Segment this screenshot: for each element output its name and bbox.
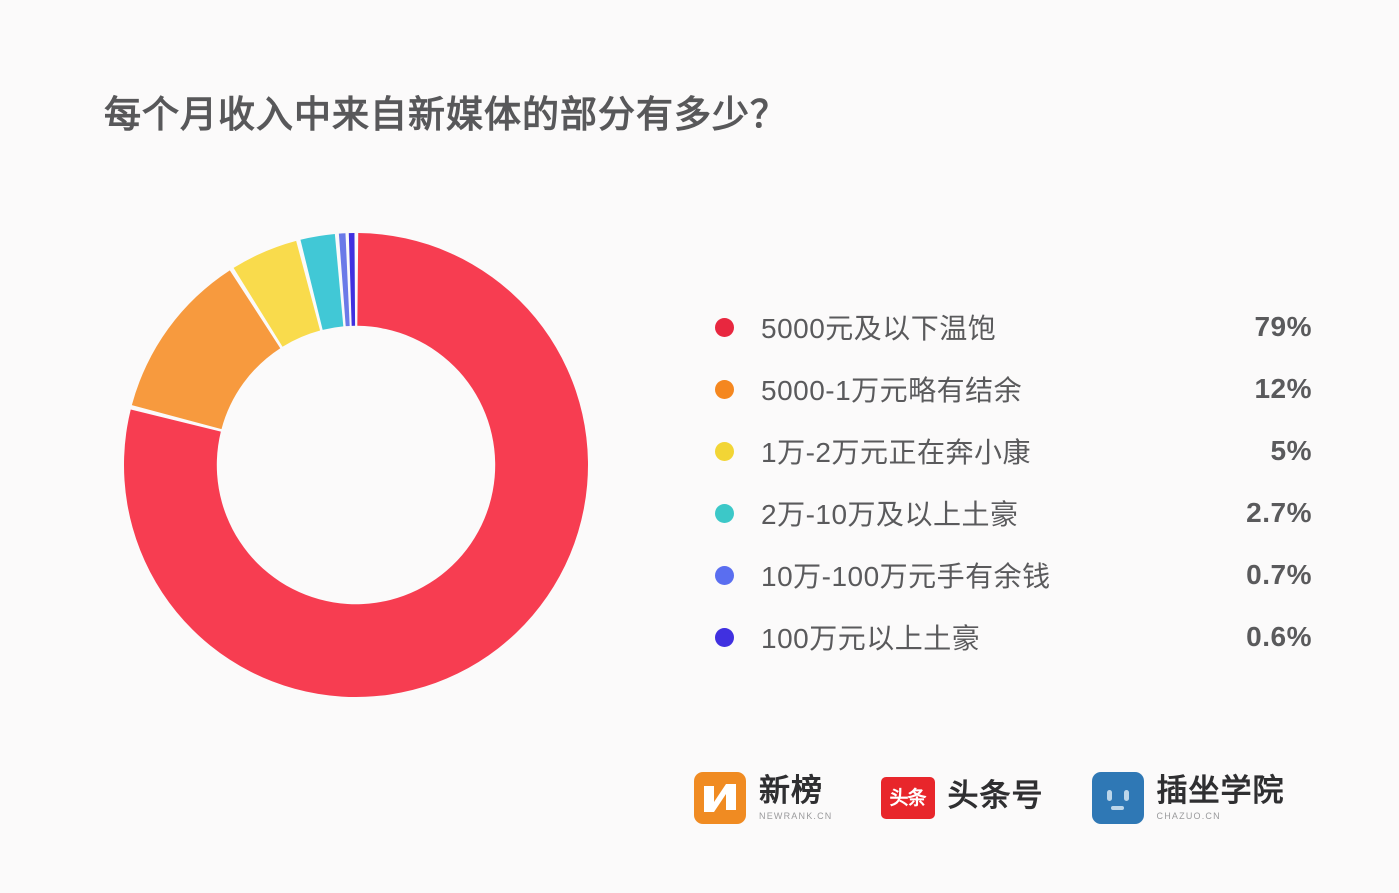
- legend-item-label: 5000-1万元略有结余: [761, 369, 1202, 409]
- legend-color-swatch-icon: [715, 504, 734, 523]
- legend-item-label: 10万-100万元手有余钱: [761, 555, 1202, 595]
- legend-item-value: 0.6%: [1202, 621, 1312, 653]
- legend-item[interactable]: 100万元以上土豪 0.6%: [712, 606, 1312, 668]
- legend-item-value: 12%: [1202, 373, 1312, 405]
- legend-color-swatch-icon: [715, 628, 734, 647]
- legend-item-label: 1万-2万元正在奔小康: [761, 431, 1202, 471]
- toutiao-mark-text: 头条: [890, 789, 926, 808]
- newrank-n-glyph-icon: [694, 772, 746, 824]
- toutiaohao-name-cn: 头条号: [948, 780, 1044, 813]
- legend-item-value: 79%: [1202, 311, 1312, 343]
- chazuo-text: 插坐学院 CHAZUO.CN: [1157, 775, 1285, 821]
- legend-color-swatch-icon: [715, 442, 734, 461]
- page-title: 每个月收入中来自新媒体的部分有多少？: [104, 84, 788, 138]
- legend-item-label: 5000元及以下温饱: [761, 307, 1202, 347]
- legend-item-value: 0.7%: [1202, 559, 1312, 591]
- legend-color-swatch-icon: [715, 318, 734, 337]
- legend-item-label: 100万元以上土豪: [761, 617, 1202, 657]
- donut-slice[interactable]: [349, 233, 355, 326]
- chart-legend: 5000元及以下温饱 79% 5000-1万元略有结余 12% 1万-2万元正在…: [712, 296, 1312, 668]
- logo-chazuo: 插坐学院 CHAZUO.CN: [1092, 772, 1285, 824]
- legend-item[interactable]: 10万-100万元手有余钱 0.7%: [712, 544, 1312, 606]
- legend-item[interactable]: 5000元及以下温饱 79%: [712, 296, 1312, 358]
- donut-chart-svg: [116, 225, 596, 705]
- chazuo-name-cn: 插坐学院: [1157, 775, 1285, 808]
- chazuo-face-right-eye-icon: [1124, 790, 1129, 801]
- chazuo-mark-icon: [1092, 772, 1144, 824]
- newrank-name-cn: 新榜: [759, 775, 833, 808]
- toutiao-mark-icon: 头条: [881, 777, 935, 819]
- legend-item[interactable]: 5000-1万元略有结余 12%: [712, 358, 1312, 420]
- newrank-mark-icon: [694, 772, 746, 824]
- newrank-name-en: NEWRANK.CN: [759, 811, 833, 821]
- logo-bar: 新榜 NEWRANK.CN 头条 头条号 插坐学院 CHAZUO.CN: [694, 772, 1285, 824]
- chazuo-face-left-eye-icon: [1107, 790, 1112, 801]
- legend-color-swatch-icon: [715, 566, 734, 585]
- legend-item-label: 2万-10万及以上土豪: [761, 493, 1202, 533]
- newrank-text: 新榜 NEWRANK.CN: [759, 775, 833, 821]
- toutiaohao-text: 头条号: [948, 780, 1044, 816]
- legend-item-value: 5%: [1202, 435, 1312, 467]
- donut-slice-group: [124, 233, 588, 697]
- legend-item[interactable]: 1万-2万元正在奔小康 5%: [712, 420, 1312, 482]
- legend-item[interactable]: 2万-10万及以上土豪 2.7%: [712, 482, 1312, 544]
- legend-color-swatch-icon: [715, 380, 734, 399]
- logo-toutiaohao: 头条 头条号: [881, 777, 1044, 819]
- legend-item-value: 2.7%: [1202, 497, 1312, 529]
- donut-chart: [116, 225, 596, 705]
- chazuo-name-en: CHAZUO.CN: [1157, 811, 1285, 821]
- chazuo-face-mouth-icon: [1111, 806, 1124, 810]
- logo-newrank: 新榜 NEWRANK.CN: [694, 772, 833, 824]
